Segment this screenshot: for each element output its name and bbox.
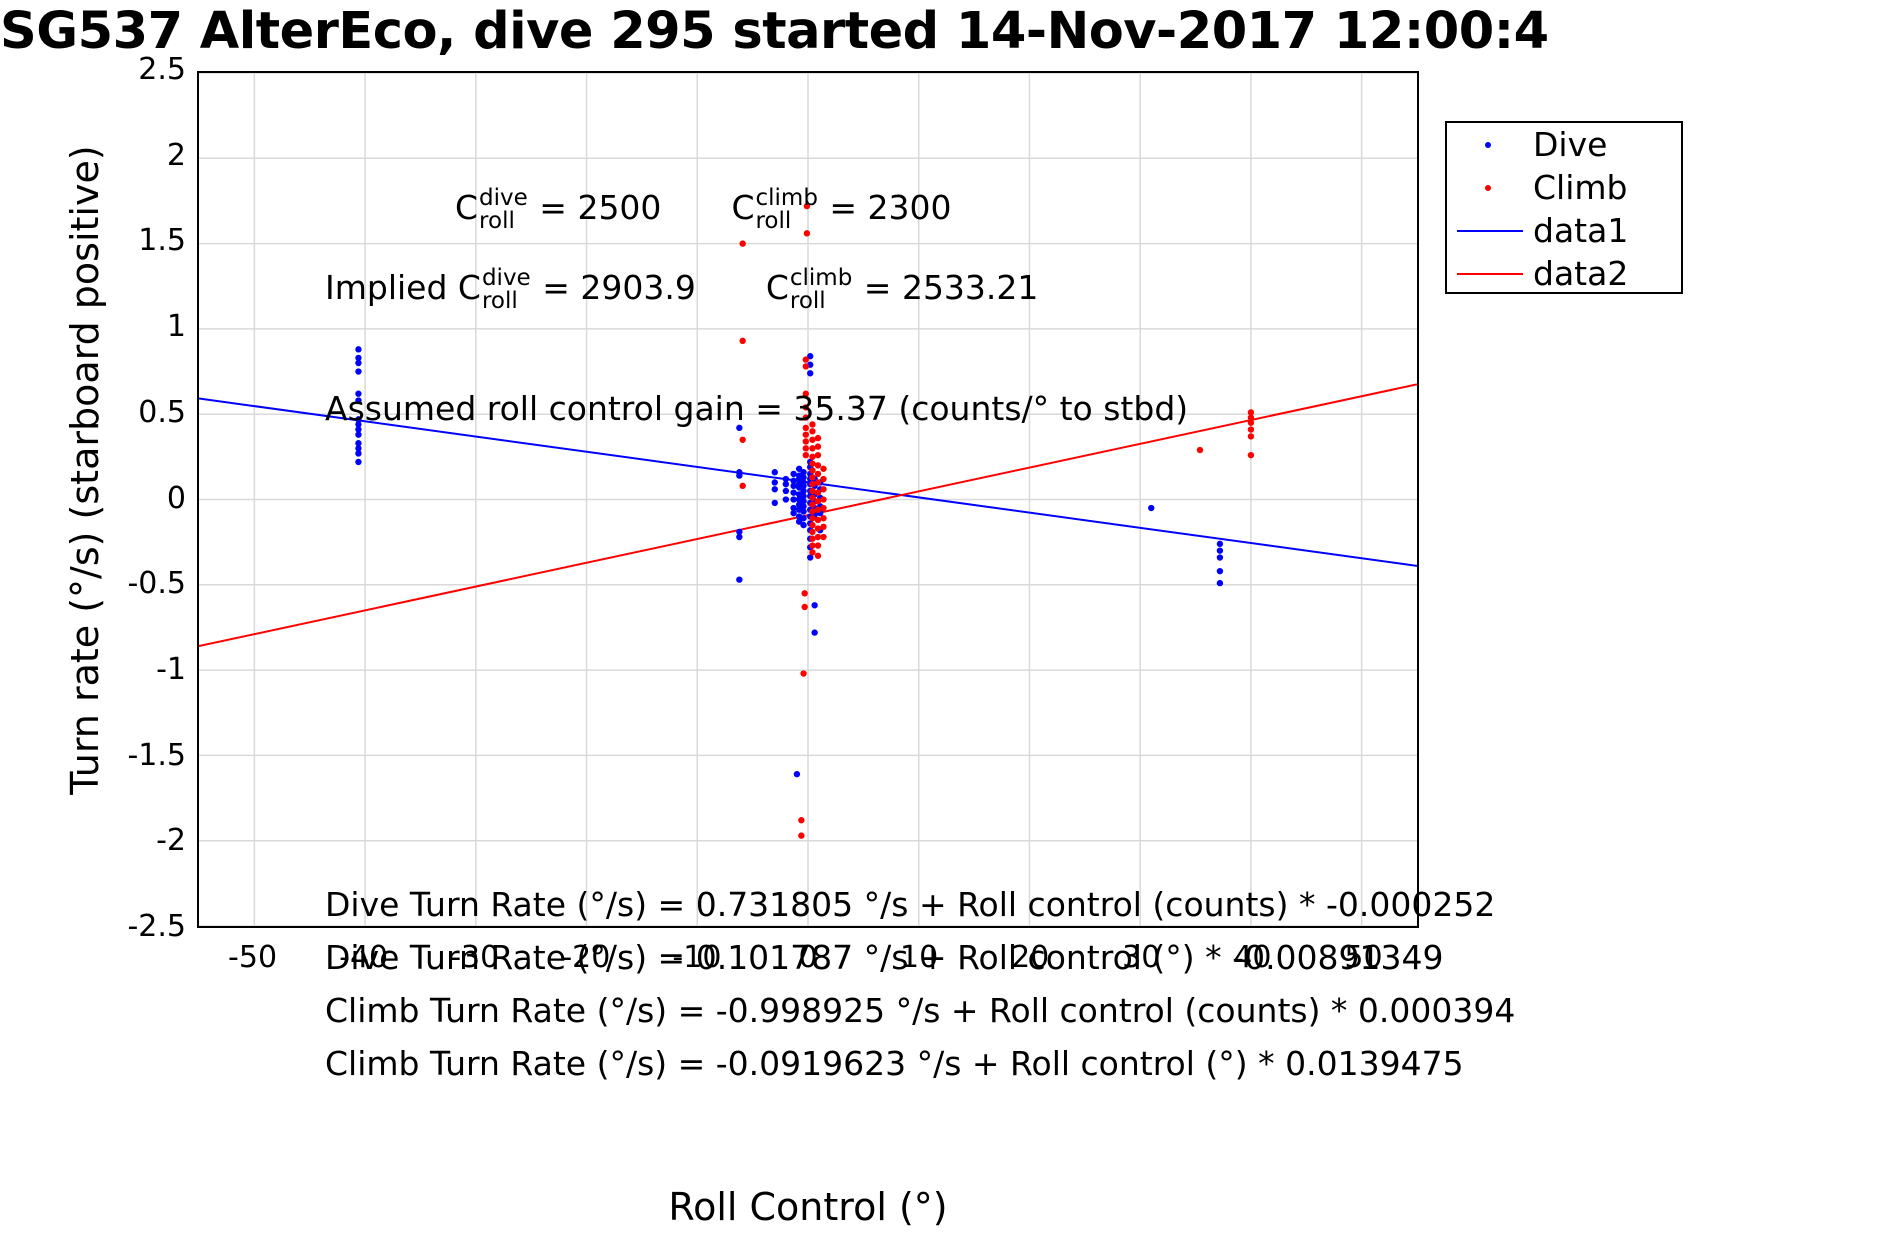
annotation-line-1: Cdiveroll = 2500Cclimbroll = 2300 <box>455 186 952 233</box>
c-roll-dive-fraction: diveroll <box>479 187 528 234</box>
y-axis-label: Turn rate (°/s) (starboard positive) <box>63 40 107 900</box>
c-roll-dive-symbol: C <box>455 188 478 227</box>
legend-label: data2 <box>1533 252 1628 295</box>
implied-c-roll-dive-value: = 2903.9 <box>532 268 696 307</box>
legend-dot-icon <box>1485 185 1491 191</box>
legend-item-climb[interactable]: Climb <box>1447 166 1681 209</box>
legend-label: Climb <box>1533 166 1627 209</box>
x-tick-label: -50 <box>193 940 313 975</box>
legend-item-data1[interactable]: data1 <box>1447 209 1681 252</box>
legend-dot-icon <box>1485 142 1491 148</box>
c-roll-climb-fraction: climbroll <box>755 187 817 234</box>
legend-key-dive <box>1447 123 1533 166</box>
c-roll-climb-value: = 2300 <box>819 188 952 227</box>
implied-c-roll-dive-fraction: diveroll <box>482 267 531 314</box>
y-tick-label: -2.5 <box>66 909 186 944</box>
legend-line-icon <box>1457 230 1523 232</box>
annotation-line-3: Assumed roll control gain = 35.37 (count… <box>325 392 1188 425</box>
legend-key-climb <box>1447 166 1533 209</box>
chart-title: SG537 AlterEco, dive 295 started 14-Nov-… <box>0 2 1890 62</box>
implied-c-roll-climb-value: = 2533.21 <box>853 268 1038 307</box>
c-roll-climb-symbol: C <box>731 188 754 227</box>
legend-item-dive[interactable]: Dive <box>1447 123 1681 166</box>
equation-climb-counts: Climb Turn Rate (°/s) = -0.998925 °/s + … <box>325 994 1515 1027</box>
legend-box[interactable]: DiveClimbdata1data2 <box>1445 121 1683 294</box>
equation-dive-counts: Dive Turn Rate (°/s) = 0.731805 °/s + Ro… <box>325 888 1495 921</box>
legend-item-data2[interactable]: data2 <box>1447 252 1681 295</box>
equation-climb-degrees: Climb Turn Rate (°/s) = -0.0919623 °/s +… <box>325 1047 1464 1080</box>
implied-c-roll-climb-symbol: C <box>766 268 789 307</box>
implied-c-roll-climb-fraction: climbroll <box>790 267 852 314</box>
implied-prefix: Implied <box>325 268 458 307</box>
equation-dive-degrees: Dive Turn Rate (°/s) = 0.101787 °/s + Ro… <box>325 941 1444 974</box>
legend-label: Dive <box>1533 123 1607 166</box>
x-axis-label: Roll Control (°) <box>197 1185 1419 1229</box>
annotation-line-2: Implied Cdiveroll = 2903.9Cclimbroll = 2… <box>325 266 1038 313</box>
figure-canvas: SG537 AlterEco, dive 295 started 14-Nov-… <box>0 0 1890 1260</box>
implied-c-roll-dive-symbol: C <box>458 268 481 307</box>
c-roll-dive-value: = 2500 <box>529 188 662 227</box>
legend-label: data1 <box>1533 209 1628 252</box>
legend-line-icon <box>1457 273 1523 275</box>
legend-key-data1 <box>1447 209 1533 252</box>
legend-key-data2 <box>1447 252 1533 295</box>
